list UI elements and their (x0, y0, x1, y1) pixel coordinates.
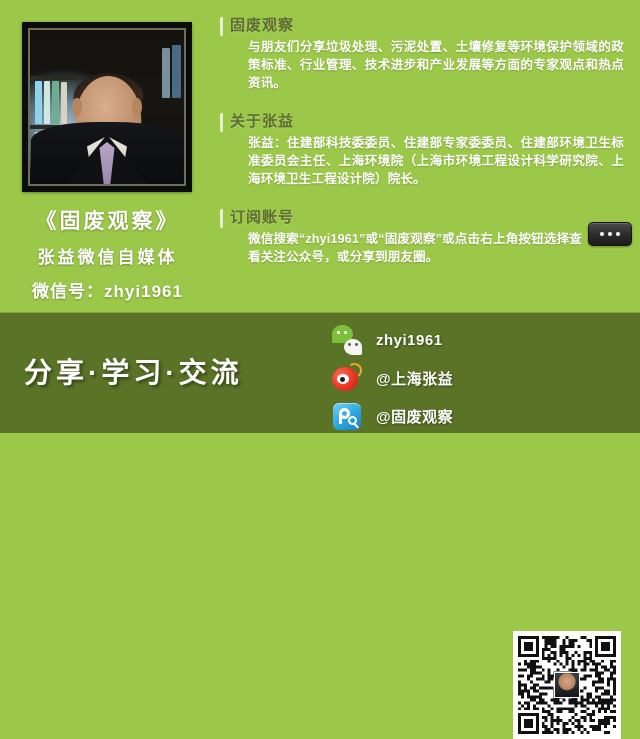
right-column: 固废观察 与朋友们分享垃圾处理、污泥处置、土壤修复等环境保护领域的政策标准、行业… (218, 0, 640, 312)
footer-bar: 分享·学习·交流 zhyi1961 (0, 312, 640, 433)
section-body: 张益：住建部科技委委员、住建部专家委委员、住建部环境卫生标准委员会主任、上海环境… (218, 134, 640, 188)
book (35, 81, 43, 124)
section-heading: 订阅账号 (218, 206, 640, 230)
social-label: @固废观察 (376, 406, 453, 427)
weibo-icon (332, 363, 362, 393)
wechat-icon (332, 325, 362, 355)
caption-wechat-id: 微信号：zhyi1961 (0, 277, 215, 302)
shelf-line (30, 76, 82, 80)
dot-icon (608, 232, 612, 236)
social-row-wechat[interactable]: zhyi1961 (332, 323, 502, 357)
section-body: 微信搜索“zhyi1961”或“固废观察”或点击右上角按钮选择查看关注公众号，或… (218, 230, 640, 266)
dot-icon (616, 232, 620, 236)
social-row-search-app[interactable]: @固废观察 (332, 399, 502, 433)
social-label: zhyi1961 (376, 332, 443, 349)
book (162, 48, 170, 97)
section-about-account: 固废观察 与朋友们分享垃圾处理、污泥处置、土壤修复等环境保护领域的政策标准、行业… (218, 0, 640, 92)
qr-center-avatar (554, 672, 580, 698)
book (44, 81, 50, 124)
wechat-promo-card: 《固废观察》 张益微信自媒体 微信号：zhyi1961 固废观察 与朋友们分享垃… (0, 0, 640, 432)
portrait-photo (28, 28, 186, 186)
portrait-frame (22, 22, 192, 192)
social-account-list: zhyi1961 @上海张益 @固废观 (332, 323, 502, 437)
dot-icon (600, 232, 604, 236)
section-body: 与朋友们分享垃圾处理、污泥处置、土壤修复等环境保护领域的政策标准、行业管理、技术… (218, 38, 640, 92)
book (172, 45, 181, 97)
book (52, 81, 60, 124)
caption-title: 《固废观察》 (0, 205, 215, 235)
social-label: @上海张益 (376, 368, 453, 389)
search-app-icon (332, 401, 362, 431)
left-column: 《固废观察》 张益微信自媒体 微信号：zhyi1961 (0, 0, 215, 312)
section-heading: 关于张益 (218, 110, 640, 134)
footer-slogan: 分享·学习·交流 (24, 351, 243, 391)
section-about-author: 关于张益 张益：住建部科技委委员、住建部专家委委员、住建部环境卫生标准委员会主任… (218, 94, 640, 188)
book (61, 82, 67, 124)
section-subscribe: 订阅账号 微信搜索“zhyi1961”或“固废观察”或点击右上角按钮选择查看关注… (218, 190, 640, 266)
social-row-weibo[interactable]: @上海张益 (332, 361, 502, 395)
portrait-ear (72, 98, 82, 116)
more-options-button[interactable] (588, 222, 632, 246)
wechat-qr-code[interactable] (513, 631, 621, 739)
section-heading: 固废观察 (218, 14, 640, 38)
caption-subtitle: 张益微信自媒体 (0, 243, 215, 268)
